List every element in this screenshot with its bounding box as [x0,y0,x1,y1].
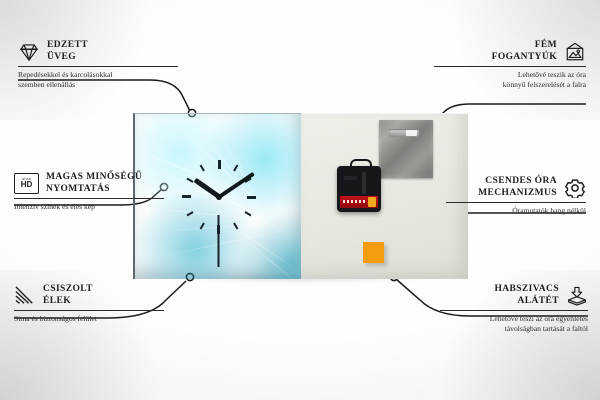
callout-desc: Intenzív színek és éles kép [14,202,164,212]
callout-title: FÉM FOGANTYÚK [492,40,557,63]
callout-desc: Repedésekkel és karcolásokkal szemben el… [18,70,178,89]
callout-silent-movement: CSENDES ÓRA MECHANIZMUS Óramutatók hang … [446,176,586,216]
polished-edges-icon [14,286,36,306]
callout-desc: Sima és biztonságos felület [14,314,164,324]
callout-title: CSENDES ÓRA MECHANIZMUS [478,176,557,199]
mechanism-hook [350,159,372,171]
callout-title: CSISZOLT ÉLEK [43,284,93,307]
callout-desc: Lehetővé teszi az óra egyenletes távolsá… [440,314,588,333]
orange-foam-pad [363,242,384,263]
callout-rule [18,66,178,67]
gear-icon [564,178,586,198]
callout-rule [440,310,588,311]
mechanism-detail [362,172,366,194]
callout-title: MAGAS MINŐSÉGŰ NYOMTATÁS [46,172,142,195]
mechanism-detail-2 [344,176,357,180]
hand-cap [216,194,222,200]
ultra-hd-icon: ultraHD [14,173,39,194]
callout-high-quality-print: ultraHD MAGAS MINŐSÉGŰ NYOMTATÁS Intenzí… [14,172,164,212]
callout-rule [14,198,164,199]
callout-rule [14,310,164,311]
callout-title: EDZETT ÜVEG [47,40,88,63]
product-image [133,113,468,278]
callout-desc: Lehetővé teszik az óra könnyű felszerelé… [434,70,586,89]
callout-title: HABSZIVACS ALÁTÉT [494,284,559,307]
foam-pad-icon [566,286,588,306]
callout-rule [446,202,586,203]
callout-polished-edges: CSISZOLT ÉLEK Sima és biztonságos felüle… [14,284,164,324]
wall-mount-icon [564,42,586,62]
accessories-panel [301,113,468,279]
quartz-clock-mechanism [337,166,381,212]
callout-metal-handles: FÉM FOGANTYÚK Lehetővé teszik az óra kön… [434,40,586,89]
battery-label [340,196,378,208]
callout-foam-pad: HABSZIVACS ALÁTÉT Lehetővé teszi az óra … [440,284,588,333]
callout-tempered-glass: EDZETT ÜVEG Repedésekkel és karcolásokka… [18,40,178,89]
callout-rule [434,66,586,67]
callout-desc: Óramutatók hang nélkül [446,206,586,216]
hanger-slot [389,129,419,137]
diamond-icon [18,42,40,62]
metal-hanger-plate [379,120,433,178]
infographic-canvas: EDZETT ÜVEG Repedésekkel és karcolásokka… [0,0,600,400]
